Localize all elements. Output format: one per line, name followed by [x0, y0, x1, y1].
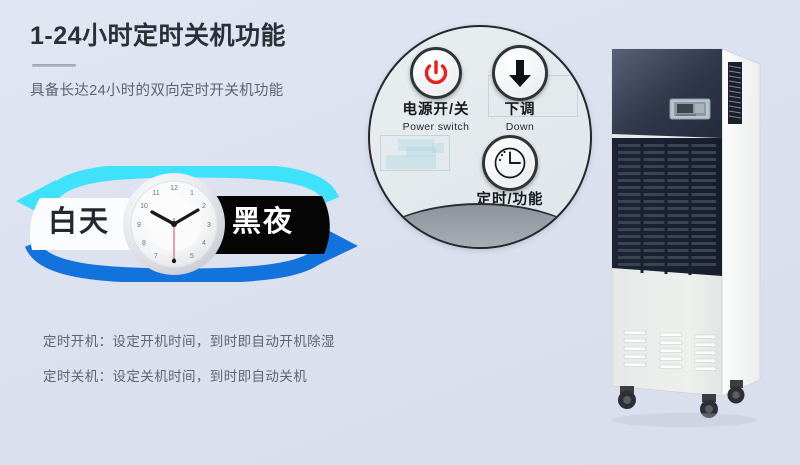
svg-text:3: 3	[207, 222, 211, 229]
faint-detail	[380, 135, 450, 171]
promo-page: 1-24小时定时关机功能 具备长达24小时的双向定时开关机功能	[0, 0, 800, 465]
down-caption: 下调 Down	[460, 103, 580, 133]
title-divider	[32, 64, 76, 67]
svg-text:11: 11	[152, 190, 159, 197]
power-switch-button[interactable]	[410, 47, 462, 99]
lcd-display	[670, 99, 710, 119]
faint-detail	[432, 143, 444, 153]
page-subtitle: 具备长达24小时的双向定时开关机功能	[30, 79, 370, 100]
svg-text:2: 2	[202, 203, 206, 210]
page-title: 1-24小时定时关机功能	[30, 22, 370, 51]
day-label: 白天	[48, 208, 110, 237]
description-block: 定时开机：设定开机时间，到时即自动开机除湿 定时关机：设定关机时间，到时即自动关…	[43, 330, 335, 400]
svg-text:7: 7	[154, 253, 158, 260]
timing-function-button[interactable]	[482, 135, 538, 191]
svg-text:5: 5	[190, 253, 194, 260]
clock-icon	[493, 146, 527, 180]
description-line: 定时关机：设定关机时间，到时即自动关机	[43, 365, 335, 385]
svg-text:12: 12	[170, 185, 178, 192]
description-line: 定时开机：设定开机时间，到时即自动开机除湿	[43, 330, 335, 350]
analog-clock: 12 1 2 3 4 5 6 7 8 9 10 11	[122, 172, 226, 276]
caption-cn: 下调	[460, 103, 580, 119]
svg-text:8: 8	[142, 240, 146, 247]
night-label: 黑夜	[232, 208, 294, 237]
svg-text:10: 10	[140, 203, 148, 210]
heading-block: 1-24小时定时关机功能 具备长达24小时的双向定时开关机功能	[30, 22, 370, 100]
down-button[interactable]	[492, 45, 548, 101]
arrow-down-icon	[506, 57, 534, 89]
svg-text:1: 1	[190, 190, 194, 197]
caption-en: Down	[460, 121, 580, 133]
power-icon	[421, 58, 451, 88]
control-panel-closeup: 电源开/关 Power switch 下调 Down 定时/功能 Timing/…	[368, 25, 592, 249]
unit-shadow	[612, 413, 756, 427]
dehumidifier-unit	[598, 28, 788, 436]
svg-text:4: 4	[202, 240, 206, 247]
svg-text:9: 9	[137, 222, 141, 229]
